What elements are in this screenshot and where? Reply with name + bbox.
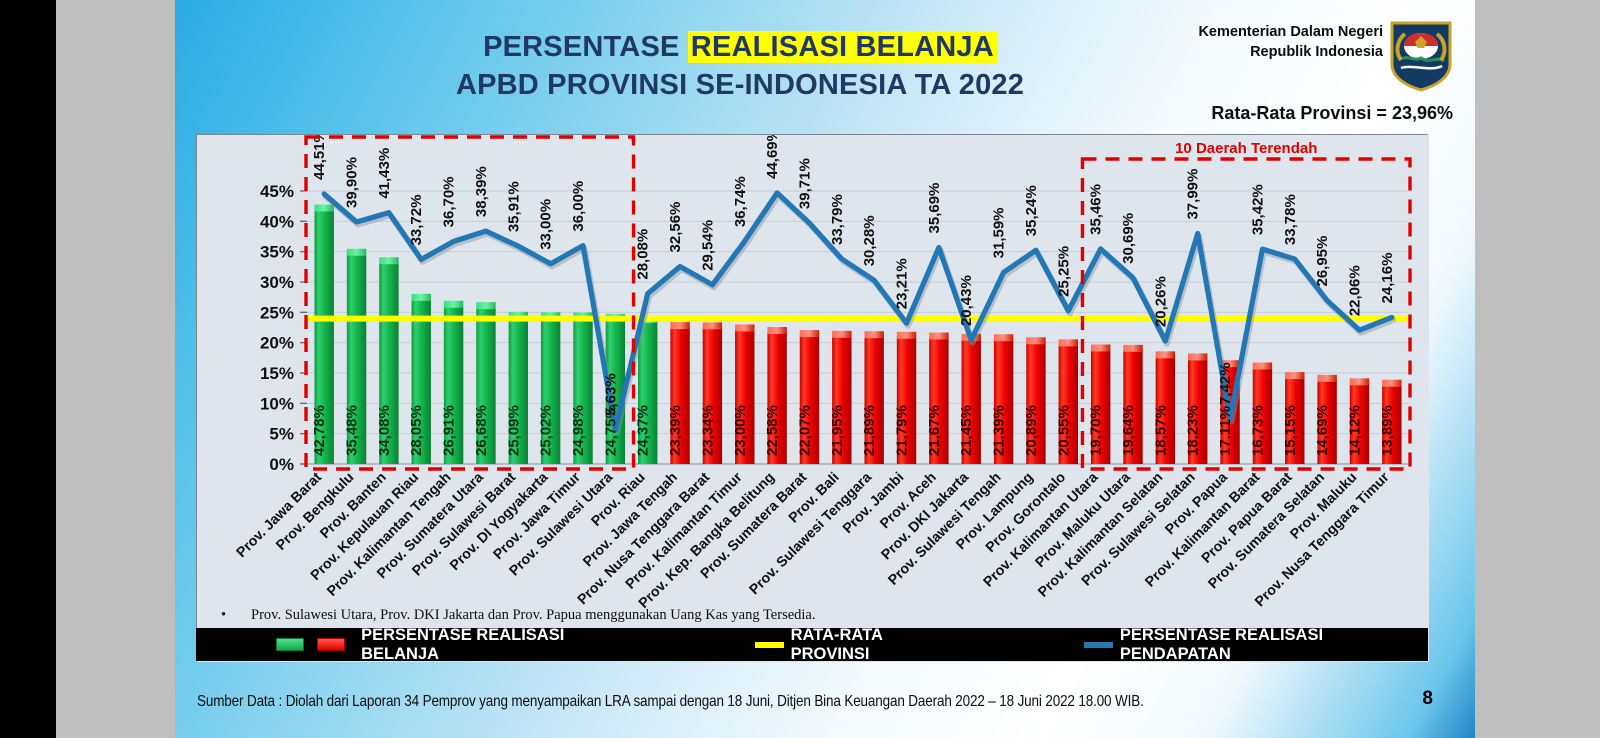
line-value-label: 44,69% — [764, 135, 781, 179]
line-value-label: 20,26% — [1152, 276, 1169, 327]
line-value-label: 23,21% — [894, 258, 911, 309]
slide-canvas: PERSENTASE REALISASI BELANJA APBD PROVIN… — [0, 0, 1600, 738]
bar-top-highlight — [897, 332, 916, 339]
bar-value-label: 20,89% — [1023, 405, 1040, 456]
bar-value-label: 34,08% — [376, 405, 393, 456]
bar-value-label: 21,95% — [829, 405, 846, 456]
line-value-label: 30,28% — [861, 215, 878, 266]
y-axis-tick-label: 45% — [260, 182, 294, 201]
line-value-label: 44,51% — [311, 135, 328, 180]
line-value-label: 29,54% — [699, 220, 716, 271]
bar-value-label: 14,12% — [1346, 405, 1363, 456]
bar-value-label: 25,02% — [538, 405, 555, 456]
bar-top-highlight — [444, 301, 463, 308]
bar-value-label: 18,23% — [1185, 405, 1202, 456]
bar-value-label: 15,15% — [1282, 405, 1299, 456]
bar-top-highlight — [1317, 375, 1336, 382]
line-value-label: 36,70% — [441, 176, 458, 227]
line-value-label: 33,00% — [538, 199, 555, 250]
bar-value-label: 18,57% — [1152, 405, 1169, 456]
highlight-box-label: 10 Daerah Terendah — [1175, 140, 1317, 157]
bar-value-label: 21,89% — [861, 405, 878, 456]
line-value-label: 36,74% — [732, 176, 749, 227]
bar-top-highlight — [1382, 380, 1401, 387]
line-value-label: 38,39% — [473, 166, 490, 217]
y-axis-tick-label: 25% — [260, 303, 294, 322]
right-gray-margin — [1475, 0, 1600, 738]
bar-value-label: 26,68% — [473, 405, 490, 456]
legend-label-rata-rata: RATA-RATA PROVINSI — [791, 626, 960, 664]
bar-top-highlight — [1188, 353, 1207, 360]
legend-label-belanja: PERSENTASE REALISASI BELANJA — [361, 626, 637, 664]
line-value-label: 7,42% — [1217, 362, 1234, 405]
bar-top-highlight — [379, 257, 398, 264]
bar-top-highlight — [800, 330, 819, 337]
y-axis-tick-label: 20% — [260, 334, 294, 353]
bar-value-label: 21,79% — [894, 405, 911, 456]
bar-top-highlight — [1156, 351, 1175, 358]
bar-top-highlight — [1026, 337, 1045, 344]
bar-value-label: 24,98% — [570, 405, 587, 456]
y-axis-tick-label: 30% — [260, 273, 294, 292]
bar-top-highlight — [347, 249, 366, 256]
line-value-label: 35,42% — [1249, 184, 1266, 235]
line-value-label: 20,43% — [958, 275, 975, 326]
bar-value-label: 28,05% — [408, 405, 425, 456]
line-value-label: 39,71% — [796, 158, 813, 209]
legend-item-rata-rata: RATA-RATA PROVINSI — [755, 626, 960, 664]
bar-value-label: 42,78% — [311, 405, 328, 456]
ministry-text: Kementerian Dalam Negeri Republik Indone… — [1123, 22, 1383, 62]
legend-item-belanja: PERSENTASE REALISASI BELANJA — [276, 626, 637, 664]
bar-value-label: 22,07% — [796, 405, 813, 456]
bar-value-label: 20,55% — [1055, 405, 1072, 456]
bar-top-highlight — [1350, 378, 1369, 385]
line-value-label: 5,63% — [602, 373, 619, 416]
green-bar-swatch-icon — [276, 638, 304, 651]
bar-value-label: 23,39% — [667, 405, 684, 456]
province-average-label: Rata-Rata Provinsi = 23,96% — [1211, 103, 1453, 124]
line-value-label: 39,90% — [344, 157, 361, 208]
yellow-line-swatch-icon — [755, 642, 784, 648]
chart-plot: 0%5%10%15%20%25%30%35%40%45% 42,78%35,48… — [197, 135, 1429, 662]
line-value-label: 33,79% — [829, 194, 846, 245]
line-value-label: 35,46% — [1088, 184, 1105, 235]
bar-top-highlight — [1123, 345, 1142, 352]
presentation-slide: PERSENTASE REALISASI BELANJA APBD PROVIN… — [175, 0, 1475, 738]
line-value-label: 33,78% — [1282, 194, 1299, 245]
line-value-label: 37,99% — [1185, 169, 1202, 220]
legend-label-pendapatan: PERSENTASE REALISASI PENDAPATAN — [1120, 626, 1428, 664]
bar-top-highlight — [864, 331, 883, 338]
page-number: 8 — [1422, 688, 1433, 710]
line-value-label: 41,43% — [376, 148, 393, 199]
bar-value-label: 16,73% — [1249, 405, 1266, 456]
line-value-label: 35,24% — [1023, 185, 1040, 236]
left-black-border — [0, 0, 56, 738]
bar-value-label: 17,11% — [1217, 406, 1234, 456]
title-plain-part: PERSENTASE — [483, 31, 688, 63]
bar-value-label: 25,09% — [505, 405, 522, 456]
line-value-label: 26,95% — [1314, 236, 1331, 287]
bar-top-highlight — [994, 334, 1013, 341]
chart-footnote: • Prov. Sulawesi Utara, Prov. DKI Jakart… — [221, 607, 1411, 624]
bar-top-highlight — [735, 324, 754, 331]
footnote-bullet: • — [221, 607, 226, 624]
bar-top-highlight — [314, 204, 333, 211]
bar-top-highlight — [929, 333, 948, 340]
bar-value-label: 23,00% — [732, 405, 749, 456]
bar-top-highlight — [412, 294, 431, 301]
bar-value-label: 14,69% — [1314, 405, 1331, 456]
line-value-label: 22,06% — [1346, 265, 1363, 316]
left-gray-margin — [56, 0, 175, 738]
bar-top-highlight — [767, 327, 786, 334]
y-axis-tick-label: 35% — [260, 243, 294, 262]
line-value-label: 30,69% — [1120, 213, 1137, 264]
bar-value-label: 19,64% — [1120, 405, 1137, 456]
line-value-label: 35,91% — [505, 181, 522, 232]
line-value-label: 33,72% — [408, 195, 425, 246]
y-axis-tick-label: 0% — [269, 455, 294, 474]
y-axis-tick-label: 15% — [260, 364, 294, 383]
bar-top-highlight — [1253, 363, 1272, 370]
bar-top-highlight — [1091, 344, 1110, 351]
bar-top-highlight — [1059, 339, 1078, 346]
bar-value-label: 26,91% — [441, 405, 458, 456]
bar-value-label: 22,58% — [764, 405, 781, 456]
kemendagri-crest-icon — [1389, 20, 1453, 92]
line-value-label: 31,59% — [991, 207, 1008, 258]
bar-value-label: 35,48% — [344, 405, 361, 456]
title-line-two: APBD PROVINSI SE-INDONESIA TA 2022 — [175, 66, 1305, 104]
footnote-text: Prov. Sulawesi Utara, Prov. DKI Jakarta … — [251, 607, 1411, 624]
source-note: Sumber Data : Diolah dari Laporan 34 Pem… — [197, 692, 1144, 710]
bar-top-highlight — [476, 302, 495, 309]
ministry-line-2: Republik Indonesia — [1123, 42, 1383, 62]
line-value-label: 28,08% — [635, 229, 652, 280]
bar-value-label: 21,67% — [926, 405, 943, 456]
bar-top-highlight — [670, 322, 689, 329]
bar-value-label: 23,34% — [699, 405, 716, 456]
title-highlight-part: REALISASI BELANJA — [688, 31, 997, 63]
bar-top-highlight — [832, 331, 851, 338]
bar-top-highlight — [703, 322, 722, 329]
blue-line-swatch-icon — [1084, 642, 1113, 648]
chart-card: 0%5%10%15%20%25%30%35%40%45% 42,78%35,48… — [196, 134, 1428, 661]
bar-value-label: 19,70% — [1088, 405, 1105, 456]
red-bar-swatch-icon — [317, 638, 345, 651]
y-axis-tick-label: 40% — [260, 212, 294, 231]
bar-value-label: 21,45% — [958, 405, 975, 456]
bar-top-highlight — [1285, 372, 1304, 379]
bar-value-label: 21,39% — [991, 405, 1008, 456]
y-axis-tick-label: 10% — [260, 394, 294, 413]
bar-value-label: 24,37% — [635, 405, 652, 456]
line-value-label: 32,56% — [667, 202, 684, 253]
line-value-label: 35,69% — [926, 183, 943, 234]
line-value-label: 25,25% — [1055, 246, 1072, 297]
chart-legend: PERSENTASE REALISASI BELANJA RATA-RATA P… — [196, 628, 1428, 661]
line-value-label: 36,00% — [570, 181, 587, 232]
bar-value-label: 13,89% — [1379, 405, 1396, 456]
line-value-label: 24,16% — [1379, 253, 1396, 304]
y-axis-tick-label: 5% — [269, 425, 294, 444]
ministry-line-1: Kementerian Dalam Negeri — [1123, 22, 1383, 42]
legend-item-pendapatan: PERSENTASE REALISASI PENDAPATAN — [1084, 626, 1428, 664]
